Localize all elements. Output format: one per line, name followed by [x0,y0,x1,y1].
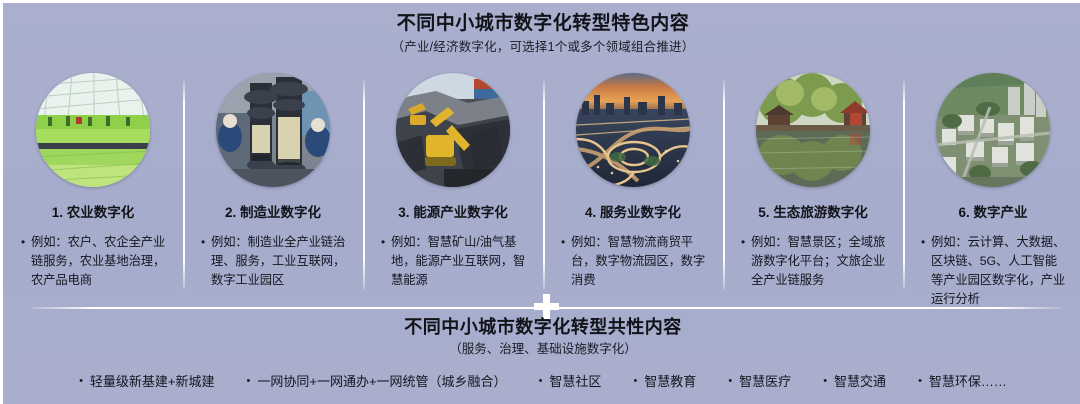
footer-item[interactable]: • 智慧环保…… [902,371,1023,390]
header: 不同中小城市数字化转型特色内容 （产业/经济数字化，可选择1个或多个领域组合推进… [3,11,1080,57]
bullet-marker: • [381,233,391,252]
footer-item-list: • 轻量级新基建+新城建 • 一网协同+一网通办+一网统管（城乡融合） • 智慧… [3,371,1080,390]
column-body: 例如：智慧物流商贸平台，数字物流园区，数字消费 [571,233,709,290]
footer-item-label: 智慧社区 [549,371,601,390]
column-body: 例如：智慧矿山/油气基地，能源产业互联网，智慧能源 [391,233,529,290]
footer-item-label: 智慧交通 [834,371,886,390]
column-body: 例如：制造业全产业链治理、服务，工业互联网，数字工业园区 [211,233,349,290]
footer-title: 不同中小城市数字化转型共性内容 [3,315,1080,340]
greenhouse-agriculture-photo [36,73,150,187]
footer-item[interactable]: • 智慧社区 [523,371,618,390]
column-title: 3. 能源产业数字化 [398,201,508,221]
bullet-marker: • [247,375,251,387]
factory-machinery-photo [216,73,330,187]
bullet-marker: • [201,233,211,252]
column-bullet: • 例如：制造业全产业链治理、服务，工业互联网，数字工业园区 [193,233,353,290]
column-body: 例如：云计算、大数据、区块链、5G、人工智能等产业园区数字化，产业运行分析 [931,233,1069,309]
footer-item-label: 智慧医疗 [739,371,791,390]
column-title: 1. 农业数字化 [52,201,135,221]
footer-item[interactable]: • 智慧医疗 [712,371,807,390]
column-bullet: • 例如：智慧矿山/油气基地，能源产业互联网，智慧能源 [373,233,533,290]
bullet-marker: • [633,375,637,387]
highway-interchange-sunset-photo [576,73,690,187]
footer-item[interactable]: • 智慧交通 [807,371,902,390]
footer-item[interactable]: • 轻量级新基建+新城建 [63,371,230,390]
footer-heading: 不同中小城市数字化转型共性内容 （服务、治理、基础设施数字化） [3,315,1080,359]
bullet-marker: • [728,375,732,387]
bullet-marker: • [918,375,922,387]
column-title: 6. 数字产业 [958,201,1027,221]
feature-column[interactable]: 4. 服务业数字化 • 例如：智慧物流商贸平台，数字物流园区，数字消费 [543,67,723,305]
infographic-poster: 不同中小城市数字化转型特色内容 （产业/经济数字化，可选择1个或多个领域组合推进… [0,0,1080,404]
bullet-marker: • [823,375,827,387]
footer-item-label: 一网协同+一网通办+一网统管（城乡融合） [257,371,506,390]
classical-garden-lake-photo [756,73,870,187]
column-bullet: • 例如：农户、农企全产业链服务，农业基地治理，农产品电商 [13,233,173,290]
footer-item-label: 智慧教育 [644,371,696,390]
feature-column[interactable]: 1. 农业数字化 • 例如：农户、农企全产业链服务，农业基地治理，农产品电商 [3,67,183,305]
bullet-marker: • [921,233,931,252]
feature-columns: 1. 农业数字化 • 例如：农户、农企全产业链服务，农业基地治理，农产品电商 [3,67,1080,305]
footer-item[interactable]: • 智慧教育 [617,371,712,390]
feature-column[interactable]: 5. 生态旅游数字化 • 例如：智慧景区；全域旅游数字化平台；文旅企业全产业链服… [723,67,903,305]
mining-excavator-photo [396,73,510,187]
industrial-park-aerial-photo [936,73,1050,187]
column-bullet: • 例如：智慧物流商贸平台，数字物流园区，数字消费 [553,233,713,290]
bullet-marker: • [561,233,571,252]
bullet-marker: • [539,375,543,387]
bullet-marker: • [21,233,31,252]
footer-item-label: 智慧环保…… [929,371,1007,390]
feature-column[interactable]: 3. 能源产业数字化 • 例如：智慧矿山/油气基地，能源产业互联网，智慧能源 [363,67,543,305]
footer-item-label: 轻量级新基建+新城建 [90,371,215,390]
column-body: 例如：农户、农企全产业链服务，农业基地治理，农产品电商 [31,233,169,290]
column-bullet: • 例如：云计算、大数据、区块链、5G、人工智能等产业园区数字化，产业运行分析 [913,233,1073,309]
column-title: 2. 制造业数字化 [225,201,321,221]
page-subtitle: （产业/经济数字化，可选择1个或多个领域组合推进） [3,37,1080,57]
column-title: 4. 服务业数字化 [585,201,681,221]
feature-column[interactable]: 6. 数字产业 • 例如：云计算、大数据、区块链、5G、人工智能等产业园区数字化… [903,67,1080,305]
footer-subtitle: （服务、治理、基础设施数字化） [3,340,1080,359]
footer-item[interactable]: • 一网协同+一网通办+一网统管（城乡融合） [231,371,523,390]
column-bullet: • 例如：智慧景区；全域旅游数字化平台；文旅企业全产业链服务 [733,233,893,290]
page-title: 不同中小城市数字化转型特色内容 [3,11,1080,37]
bullet-marker: • [741,233,751,252]
column-body: 例如：智慧景区；全域旅游数字化平台；文旅企业全产业链服务 [751,233,889,290]
column-title: 5. 生态旅游数字化 [758,201,868,221]
feature-column[interactable]: 2. 制造业数字化 • 例如：制造业全产业链治理、服务，工业互联网，数字工业园区 [183,67,363,305]
bullet-marker: • [79,375,83,387]
